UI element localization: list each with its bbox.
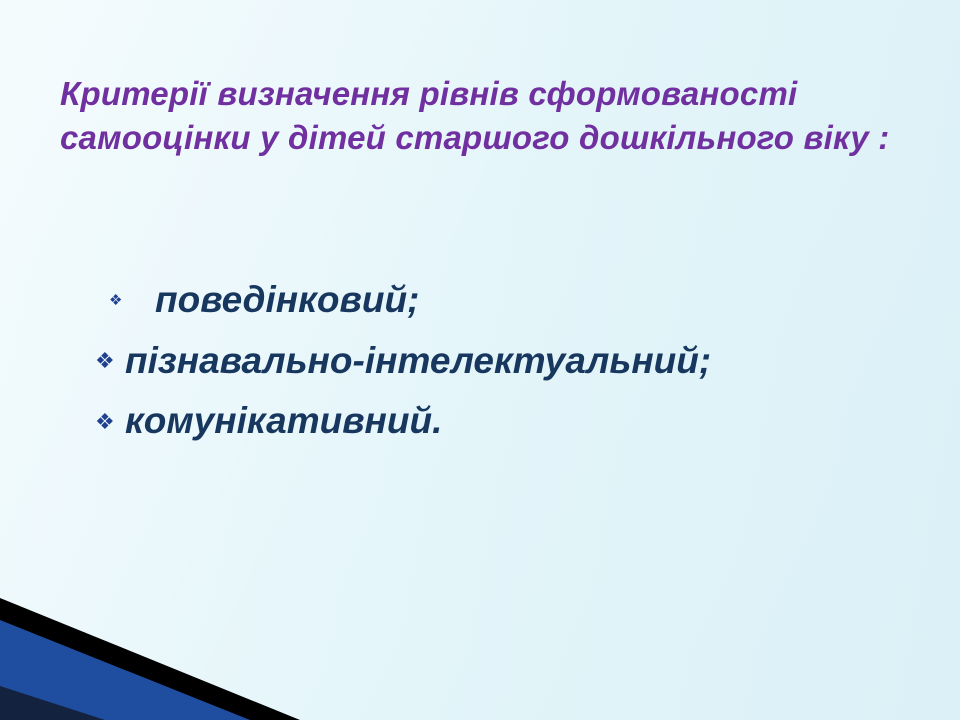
list-item: ❖ поведінковий; [95,280,925,321]
diamond-bullet-icon: ❖ [95,350,125,372]
slide: Критерії визначення рівнів сформованості… [0,0,960,720]
diamond-bullet-icon: ❖ [95,293,155,308]
slide-title: Критерії визначення рівнів сформованості… [60,72,900,159]
diamond-bullet-icon: ❖ [95,411,125,433]
list-item: ❖ пізнавально-інтелектуальний; [95,341,925,382]
bullet-list: ❖ поведінковий; ❖ пізнавально-інтелектуа… [95,280,925,462]
list-item-label: пізнавально-інтелектуальний; [125,341,711,382]
list-item: ❖ комунікативний. [95,401,925,442]
list-item-label: комунікативний. [125,401,442,442]
list-item-label: поведінковий; [155,280,419,321]
decorative-corner-graphic [0,590,960,720]
